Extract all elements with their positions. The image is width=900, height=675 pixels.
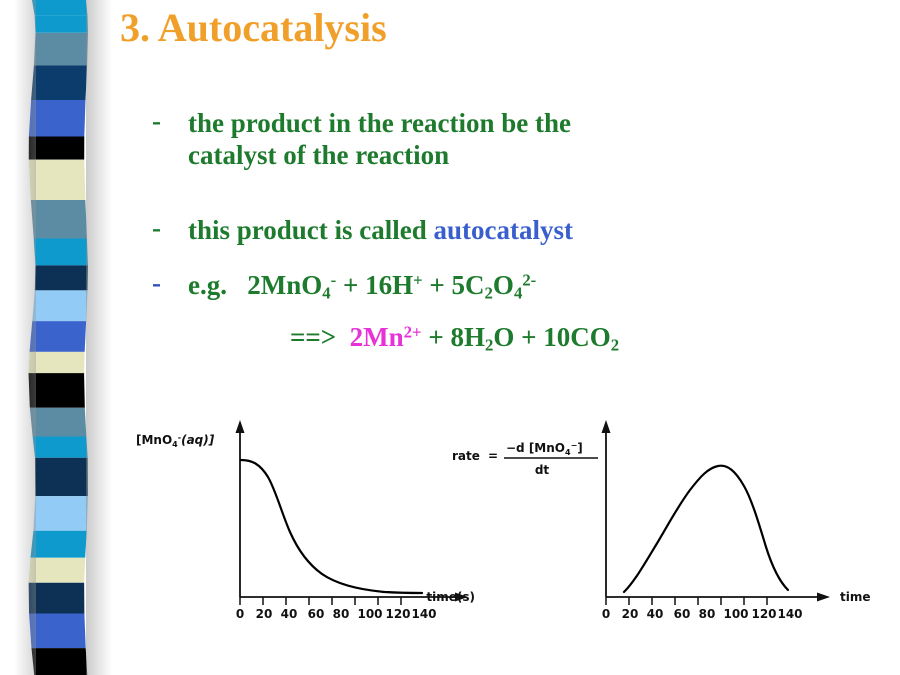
left-x-ticks [240,597,401,605]
rate-denominator: dt [535,463,550,477]
reactant-oxalate-c: 5C [452,270,485,300]
stripe-block [29,583,85,614]
reactant-h-charge: + [413,271,423,290]
bullet-2-lead: this product is called [188,215,434,245]
stripe-block [31,200,87,238]
bullet-text-2: this product is called autocatalyst [188,215,573,247]
page-title: 3. Autocatalysis [120,4,387,51]
bullet-text-1: the product in the reaction be the catal… [188,108,571,172]
stripe-block [29,137,85,160]
reactant-oxalate-o: O [493,270,514,300]
stripe-block [34,33,88,66]
stripe-block [31,65,87,100]
stripe-block [35,458,88,496]
bullet-marker: - [152,270,188,297]
product-co2-sub: 2 [611,336,619,355]
stripe-block [33,437,88,458]
product-mn2plus: 2Mn [350,322,404,352]
reaction-arrow: ==> [290,322,336,352]
reactant-oxalate-sub-c: 2 [485,284,493,303]
left-tick-80: 80 [333,607,350,621]
rate-numerator: −d [MnO4−] [506,441,583,457]
left-tick-40: 40 [281,607,298,621]
left-tick-140: 140 [411,607,436,621]
stripe-block [29,373,85,408]
stripe-block [32,290,87,321]
right-tick-20: 20 [622,607,639,621]
right-tick-60: 60 [674,607,691,621]
product-water: 8H [450,322,485,352]
stripe-block [29,160,86,200]
reactant-h: 16H [365,270,413,300]
left-decay-curve [241,460,422,593]
chart-rate-vs-time: 0 20 40 60 80 100 120 140 time [582,402,892,632]
left-y-arrowhead [236,420,245,433]
stripe-block [32,0,87,15]
right-tick-80: 80 [699,607,716,621]
bullet-marker: - [152,108,188,135]
stripe-block [35,15,88,32]
right-tick-40: 40 [647,607,664,621]
right-graph-svg: 0 20 40 60 80 100 120 140 time [582,402,892,627]
plus-1: + [343,270,358,300]
left-tick-20: 20 [256,607,273,621]
reactant-mno4: 2MnO [247,270,322,300]
rate-label: rate [452,449,480,463]
right-tick-120: 120 [751,607,776,621]
chart-concentration-decay: 0 20 40 60 80 100 120 140 time(s) [MnO4-… [130,402,480,632]
reactant-mno4-charge: - [331,271,337,290]
stripe-block [31,531,87,558]
stripe-block [33,496,87,531]
right-rate-curve [624,466,788,592]
stripe-block [29,613,86,648]
right-y-arrowhead [602,420,611,433]
bullet-1-line-1: the product in the reaction be the [188,108,571,138]
equation-line-2: ==> 2Mn2+ + 8H2O + 10CO2 [290,322,619,356]
left-tick-100: 100 [357,607,382,621]
left-graph-svg: 0 20 40 60 80 100 120 140 time(s) [MnO4-… [130,402,480,627]
left-tick-0: 0 [236,607,244,621]
bullet-item-2: - this product is called autocatalyst [152,215,842,247]
stripe-block [30,321,87,352]
eg-prefix: e.g. [188,270,227,300]
equals-sign: = [488,449,498,463]
stripe-block [34,238,88,265]
slide-canvas: 3. Autocatalysis - the product in the re… [0,0,900,675]
plus-3: + [428,322,443,352]
left-x-axis-label: time(s) [426,590,475,604]
stripe-block [35,265,88,290]
right-x-ticks [606,597,767,605]
bullet-item-1: - the product in the reaction be the cat… [152,108,842,172]
stripe-block [29,100,86,137]
left-tick-120: 120 [385,607,410,621]
left-tick-60: 60 [308,607,325,621]
stripe-block [29,558,86,583]
reactant-mno4-sub: 4 [322,284,330,303]
bullet-item-3: - e.g. 2MnO4- + 16H+ + 5C2O42- [152,270,852,303]
stripe-svg [0,0,108,675]
right-tick-140: 140 [777,607,802,621]
left-y-axis-label: [MnO4-(aq)] [136,433,215,449]
plus-2: + [429,270,444,300]
right-tick-0: 0 [602,607,610,621]
product-co2: 10CO [543,322,611,352]
stripe-block [30,408,87,437]
stripe-block [31,648,87,675]
bullet-marker: - [152,215,188,242]
product-water-o: O [493,322,514,352]
right-x-arrowhead [817,593,830,602]
reactant-oxalate-charge: 2- [522,271,536,290]
decorative-color-band [0,0,108,675]
right-x-axis-label: time [840,590,871,604]
bullet-1-line-2: catalyst of the reaction [188,140,449,170]
product-mn2plus-charge: 2+ [404,323,422,342]
equation-line-1: e.g. 2MnO4- + 16H+ + 5C2O42- [188,270,536,303]
autocatalyst-highlight: autocatalyst [434,215,573,245]
plus-4: + [521,322,536,352]
right-tick-100: 100 [723,607,748,621]
stripe-block [29,352,85,373]
